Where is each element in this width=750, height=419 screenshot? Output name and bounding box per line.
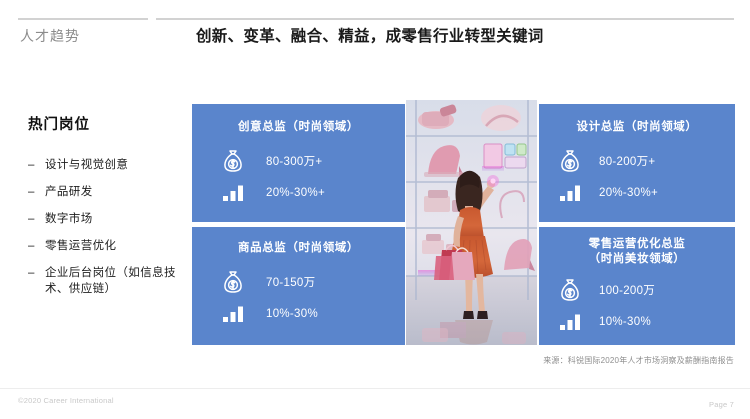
bullet-dash: –: [28, 184, 35, 200]
footer-divider: [0, 388, 750, 389]
growth-value: 20%-30%+: [599, 187, 658, 199]
list-item-label: 设计与视觉创意: [45, 159, 128, 171]
card-title: 创意总监（时尚领域）: [192, 104, 405, 135]
salary-row: 70-150万: [192, 266, 405, 298]
source-note: 来源：科锐国际2020年人才市场洞察及薪酬指南报告: [543, 355, 734, 366]
list-item: – 企业后台岗位（如信息技术、供应链）: [28, 265, 188, 297]
role-card-retail-ops-director: 零售运营优化总监 （时尚美妆领域） 100-200万: [539, 227, 735, 345]
list-item: – 产品研发: [28, 184, 188, 200]
card-stats: 100-200万 10%-30%: [539, 274, 735, 338]
list-item-label: 数字市场: [45, 213, 93, 225]
money-bag-icon: [218, 148, 248, 174]
card-title: 零售运营优化总监 （时尚美妆领域）: [539, 227, 735, 267]
bar-chart-icon: [218, 301, 248, 327]
list-item: – 数字市场: [28, 211, 188, 227]
growth-value: 20%-30%+: [266, 187, 325, 199]
card-stats: 80-200万+ 20%-30%+: [539, 145, 735, 209]
salary-value: 100-200万: [599, 282, 655, 298]
growth-row: 10%-30%: [192, 298, 405, 330]
money-bag-icon: [555, 277, 585, 303]
hot-roles-list: – 设计与视觉创意 – 产品研发 – 数字市场 – 零售运营优化 – 企业后台岗…: [28, 157, 188, 308]
list-item: – 设计与视觉创意: [28, 157, 188, 173]
salary-row: 80-200万+: [539, 145, 735, 177]
bullet-dash: –: [28, 157, 35, 173]
salary-value: 80-300万+: [266, 153, 322, 169]
role-card-design-director: 设计总监（时尚领域） 80-200万+: [539, 104, 735, 222]
role-card-creative-director: 创意总监（时尚领域） 80-300万+: [192, 104, 405, 222]
list-item: – 零售运营优化: [28, 238, 188, 254]
card-stats: 70-150万 10%-30%: [192, 266, 405, 330]
growth-row: 20%-30%+: [192, 177, 405, 209]
salary-value: 70-150万: [266, 274, 315, 290]
card-title: 设计总监（时尚领域）: [539, 104, 735, 135]
salary-row: 100-200万: [539, 274, 735, 306]
bullet-dash: –: [28, 265, 35, 281]
card-title-line-1: 零售运营优化总监: [539, 237, 735, 252]
growth-row: 10%-30%: [539, 306, 735, 338]
growth-value: 10%-30%: [266, 308, 318, 320]
header-divider-left: [18, 18, 148, 20]
card-title-line-2: （时尚美妆领域）: [539, 252, 735, 267]
panel-title: 热门岗位: [28, 113, 90, 134]
bar-chart-icon: [555, 180, 585, 206]
header-divider-right: [156, 18, 734, 20]
bullet-dash: –: [28, 238, 35, 254]
retail-shopper-photo: [406, 100, 537, 345]
page-number: Page 7: [709, 400, 734, 409]
bullet-dash: –: [28, 211, 35, 227]
growth-value: 10%-30%: [599, 316, 651, 328]
money-bag-icon: [555, 148, 585, 174]
salary-row: 80-300万+: [192, 145, 405, 177]
card-title: 商品总监（时尚领域）: [192, 227, 405, 256]
salary-value: 80-200万+: [599, 153, 655, 169]
section-kicker: 人才趋势: [20, 26, 80, 46]
slide: 人才趋势 创新、变革、融合、精益，成零售行业转型关键词 热门岗位 – 设计与视觉…: [0, 0, 750, 419]
page-title: 创新、变革、融合、精益，成零售行业转型关键词: [196, 24, 544, 46]
growth-row: 20%-30%+: [539, 177, 735, 209]
role-card-merchandise-director: 商品总监（时尚领域） 70-150万: [192, 227, 405, 345]
bar-chart-icon: [218, 180, 248, 206]
bar-chart-icon: [555, 309, 585, 335]
list-item-label: 零售运营优化: [45, 240, 116, 252]
list-item-label: 企业后台岗位（如信息技术、供应链）: [45, 267, 176, 295]
card-stats: 80-300万+ 20%-30%+: [192, 145, 405, 209]
copyright-text: ©2020 Career International: [18, 396, 114, 405]
money-bag-icon: [218, 269, 248, 295]
list-item-label: 产品研发: [45, 186, 93, 198]
